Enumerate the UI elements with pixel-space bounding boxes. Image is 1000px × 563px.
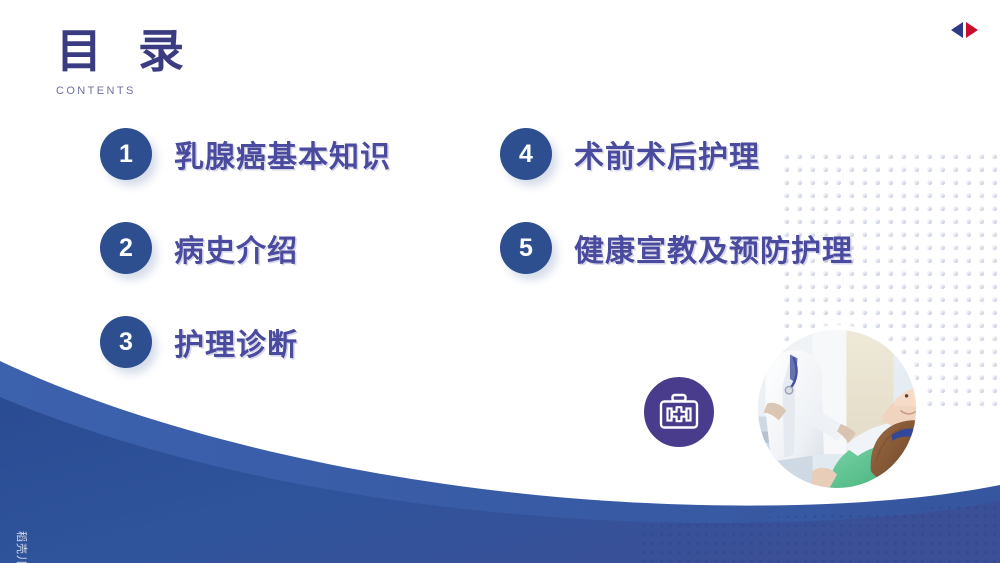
page-title: 目 录 CONTENTS: [56, 26, 194, 97]
list-item-label: 乳腺癌基本知识: [174, 132, 391, 176]
list-item[interactable]: 1 乳腺癌基本知识: [100, 125, 391, 183]
list-item[interactable]: 5 健康宣教及预防护理: [500, 219, 853, 277]
item-number-badge: 3: [100, 316, 152, 368]
watermark: 稻壳儿 XANGLES: [14, 531, 30, 563]
item-number-badge: 4: [500, 128, 552, 180]
page-title-cn: 目 录: [56, 26, 194, 76]
list-item-label: 术前术后护理: [574, 132, 760, 176]
list-item[interactable]: 4 术前术后护理: [500, 125, 853, 183]
slide-navigation[interactable]: [951, 22, 978, 38]
slide-canvas: 目 录 CONTENTS 1 乳腺癌基本知识 2 病史介绍 3 护理诊断 4: [0, 0, 1000, 563]
item-number-badge: 2: [100, 222, 152, 274]
item-number-badge: 1: [100, 128, 152, 180]
contents-column-left: 1 乳腺癌基本知识 2 病史介绍 3 护理诊断: [100, 125, 391, 407]
triangle-right-icon[interactable]: [966, 22, 978, 38]
page-title-en: CONTENTS: [56, 85, 194, 97]
list-item-label: 健康宣教及预防护理: [574, 226, 853, 270]
medical-kit-badge: [640, 373, 718, 451]
watermark-cn: 稻壳儿: [14, 531, 30, 563]
medical-kit-icon: [658, 393, 700, 431]
list-item[interactable]: 2 病史介绍: [100, 219, 391, 277]
doctor-consulting-patient-photo: [753, 325, 921, 493]
list-item-label: 护理诊断: [174, 320, 298, 364]
list-item-label: 病史介绍: [174, 226, 298, 270]
triangle-left-icon[interactable]: [951, 22, 963, 38]
contents-column-right: 4 术前术后护理 5 健康宣教及预防护理: [500, 125, 853, 313]
list-item[interactable]: 3 护理诊断: [100, 313, 391, 371]
item-number-badge: 5: [500, 222, 552, 274]
